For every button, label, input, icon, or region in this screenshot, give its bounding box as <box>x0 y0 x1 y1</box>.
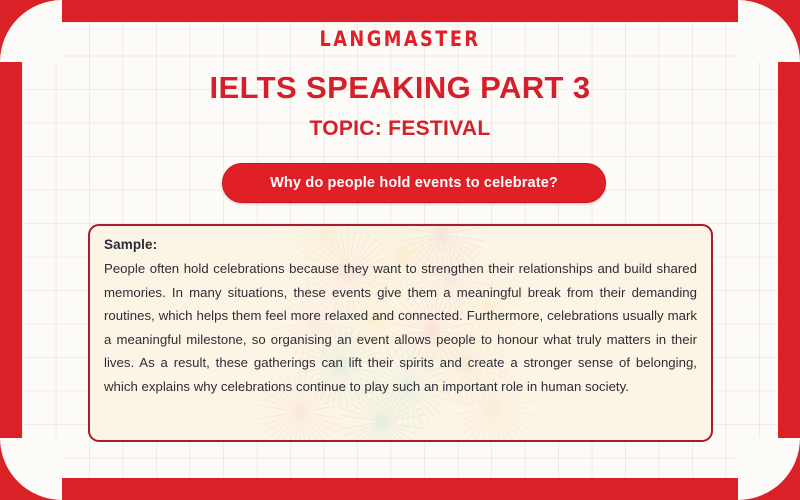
sample-body-text: People often hold celebrations because t… <box>104 257 697 399</box>
page-title: IELTS SPEAKING PART 3 <box>0 70 800 106</box>
sample-label: Sample: <box>104 237 697 252</box>
topic-subtitle: TOPIC: FESTIVAL <box>0 117 800 141</box>
question-text: Why do people hold events to celebrate? <box>270 175 558 191</box>
sample-content: Sample: People often hold celebrations b… <box>90 226 711 399</box>
sample-answer-box: Sample: People often hold celebrations b… <box>88 224 713 442</box>
question-banner: Why do people hold events to celebrate? <box>222 163 606 203</box>
brand-logo: LANGMASTER <box>24 27 776 51</box>
slide-content: LANGMASTER IELTS SPEAKING PART 3 TOPIC: … <box>0 0 800 500</box>
slide-root: LANGMASTER IELTS SPEAKING PART 3 TOPIC: … <box>0 0 800 500</box>
